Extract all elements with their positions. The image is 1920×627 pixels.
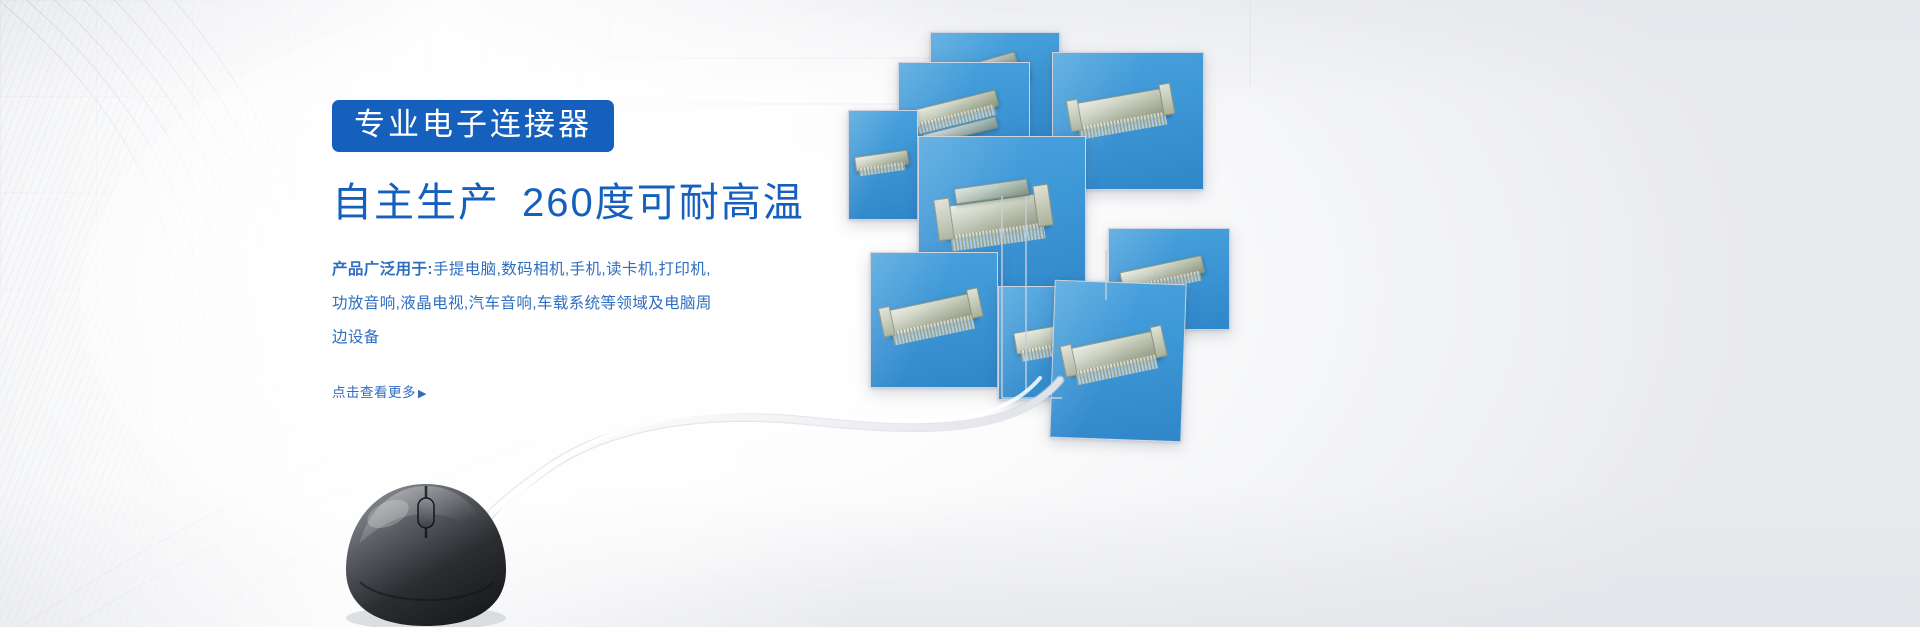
product-category-badge: 专业电子连接器	[332, 100, 614, 152]
product-applications-paragraph: 产品广泛用于:手提电脑,数码相机,手机,读卡机,打印机, 功放音响,液晶电视,汽…	[332, 253, 784, 355]
hero-banner: 电子连接器产品图 电子连接器产品图 电子连接器产品图	[0, 0, 1920, 627]
product-panel-collage: 电子连接器产品图 电子连接器产品图 电子连接器产品图	[830, 0, 1470, 500]
paragraph-lead-label: 产品广泛用于:	[332, 261, 433, 278]
banner-copy-block: 专业电子连接器 自主生产260度可耐高温 产品广泛用于:手提电脑,数码相机,手机…	[332, 100, 852, 402]
paragraph-line-3: 边设备	[332, 321, 784, 355]
panel-linking-frames	[830, 0, 1470, 500]
view-more-label: 点击查看更多	[332, 385, 416, 400]
headline-left-text: 自主生产	[332, 181, 500, 225]
computer-mouse	[330, 478, 520, 627]
paragraph-line-2: 功放音响,液晶电视,汽车音响,车载系统等领域及电脑周	[332, 287, 784, 321]
paragraph-line-1: 产品广泛用于:手提电脑,数码相机,手机,读卡机,打印机,	[332, 253, 784, 287]
chevron-right-icon: ▶	[418, 388, 427, 400]
page-title: 自主生产260度可耐高温	[332, 183, 852, 223]
view-more-link[interactable]: 点击查看更多▶	[332, 381, 427, 401]
paragraph-line-1-rest: 手提电脑,数码相机,手机,读卡机,打印机,	[433, 261, 711, 278]
headline-right-text: 260度可耐高温	[522, 181, 805, 225]
